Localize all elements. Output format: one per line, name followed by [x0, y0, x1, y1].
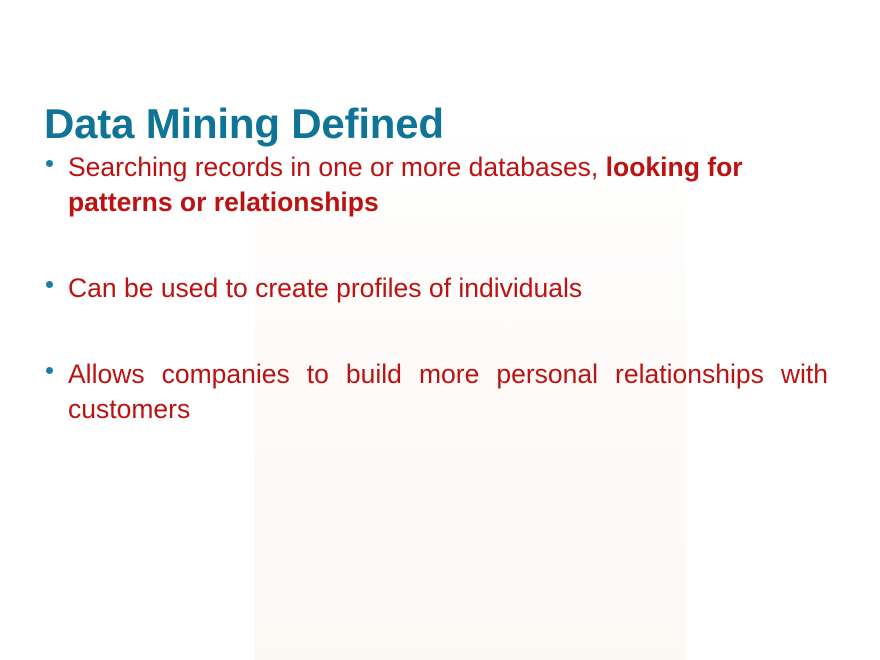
- list-item-text-normal: Searching records in one or more databas…: [68, 152, 606, 182]
- bullet-dot-icon: [46, 281, 53, 288]
- list-item: Searching records in one or more databas…: [44, 150, 828, 220]
- list-item-text: Allows companies to build more personal …: [68, 357, 828, 427]
- list-item-text-normal: Allows companies to build more personal …: [68, 359, 828, 424]
- slide-canvas: Data Mining Defined Searching records in…: [0, 0, 880, 660]
- bullet-dot-icon: [46, 160, 53, 167]
- list-item: Allows companies to build more personal …: [44, 357, 828, 427]
- page-title: Data Mining Defined: [44, 103, 444, 145]
- list-item-text-normal: Can be used to create profiles of indivi…: [68, 273, 582, 303]
- list-item-text: Can be used to create profiles of indivi…: [68, 271, 828, 306]
- list-item-text: Searching records in one or more databas…: [68, 150, 828, 220]
- bullet-list: Searching records in one or more databas…: [44, 150, 828, 427]
- list-item: Can be used to create profiles of indivi…: [44, 271, 828, 306]
- bullet-dot-icon: [46, 367, 53, 374]
